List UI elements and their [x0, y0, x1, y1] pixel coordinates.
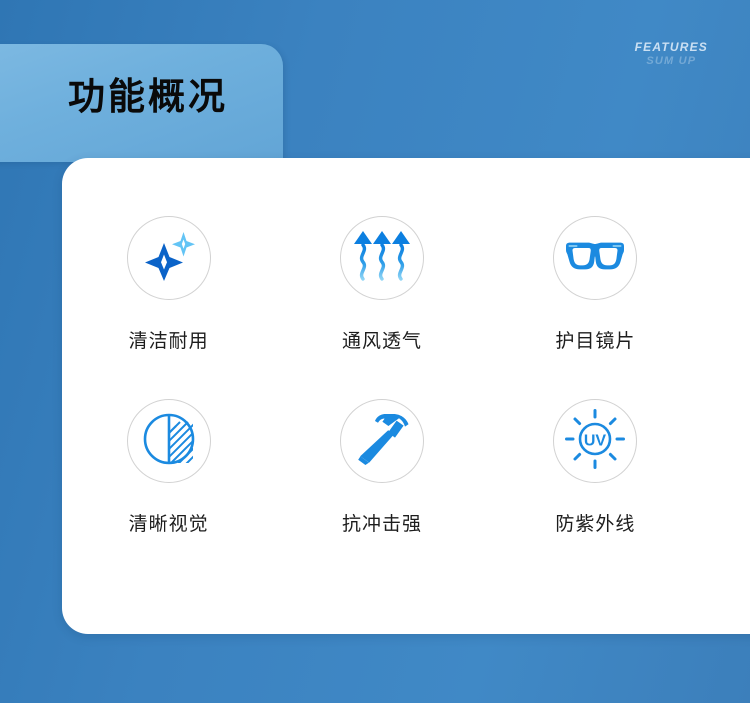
feature-item-impact-resistance[interactable]: 抗冲击强 — [275, 397, 488, 578]
page-title: 功能概况 — [68, 78, 228, 115]
features-grid: 清洁耐用 — [62, 158, 702, 634]
feature-label: 清洁耐用 — [129, 326, 209, 353]
icon-circle — [340, 399, 424, 483]
feature-label: 防紫外线 — [555, 509, 635, 536]
feature-label: 抗冲击强 — [342, 509, 422, 536]
watermark-line-2: SUM UP — [635, 55, 708, 69]
feature-item-ventilation[interactable]: 通风透气 — [275, 216, 488, 397]
contrast-circle-icon — [142, 412, 196, 471]
feature-label: 通风透气 — [342, 326, 422, 353]
feature-item-clear-vision[interactable]: 清晰视觉 — [62, 397, 275, 578]
feature-item-clean-durable[interactable]: 清洁耐用 — [62, 216, 275, 397]
feature-item-uv-protection[interactable]: UV 防紫外线 — [489, 397, 702, 578]
uv-icon-text: UV — [584, 432, 607, 449]
eyeglasses-icon — [564, 241, 626, 276]
icon-circle: UV — [553, 399, 637, 483]
hammer-icon — [355, 412, 409, 471]
sparkle-icon — [142, 231, 196, 286]
feature-label: 护目镜片 — [555, 326, 635, 353]
icon-circle — [553, 216, 637, 300]
icon-circle — [340, 216, 424, 300]
watermark-line-1: FEATURES — [635, 40, 708, 55]
airflow-arrows-icon — [354, 229, 410, 288]
icon-circle — [127, 399, 211, 483]
page-root: 功能概况 FEATURES SUM UP 清洁耐用 — [0, 0, 750, 703]
icon-circle — [127, 216, 211, 300]
features-card: 清洁耐用 — [62, 158, 750, 634]
watermark: FEATURES SUM UP — [635, 40, 708, 69]
feature-item-eye-lens[interactable]: 护目镜片 — [489, 216, 702, 397]
feature-label: 清晰视觉 — [129, 509, 209, 536]
uv-sun-icon: UV — [565, 409, 625, 474]
